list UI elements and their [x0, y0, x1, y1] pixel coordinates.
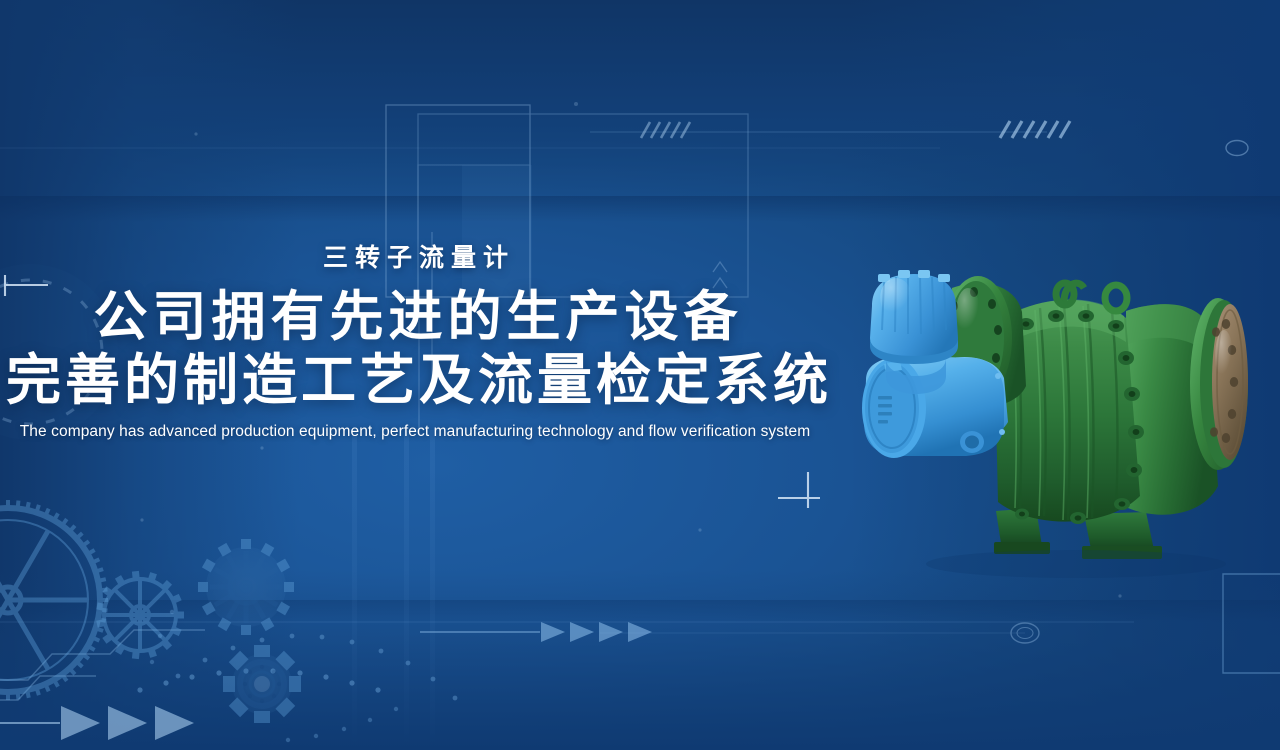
- background-bottom-shade: [0, 570, 1280, 750]
- light-streak-2: [404, 430, 409, 750]
- hero-banner: 三转子流量计 公司拥有先进的生产设备 完善的制造工艺及流量检定系统 The co…: [0, 0, 1280, 750]
- light-streak-1: [352, 430, 357, 750]
- headline-wrapper: 公司拥有先进的生产设备 完善的制造工艺及流量检定系统: [0, 287, 830, 411]
- register-cap: [870, 270, 958, 364]
- subtitle-english: The company has advanced production equi…: [0, 423, 830, 441]
- headline-line-1: 公司拥有先进的生产设备: [0, 287, 830, 349]
- light-streak-3: [430, 430, 435, 750]
- product-image-flow-meter: [826, 246, 1280, 586]
- lifting-eye-2: [1105, 285, 1127, 311]
- bolted-flange-right: [1190, 298, 1248, 470]
- eyebrow-label: 三转子流量计: [0, 246, 830, 271]
- headline-line-2: 完善的制造工艺及流量检定系统: [0, 349, 830, 412]
- banner-text-block: 三转子流量计 公司拥有先进的生产设备 完善的制造工艺及流量检定系统 The co…: [0, 246, 830, 441]
- register-housing: [862, 356, 1004, 458]
